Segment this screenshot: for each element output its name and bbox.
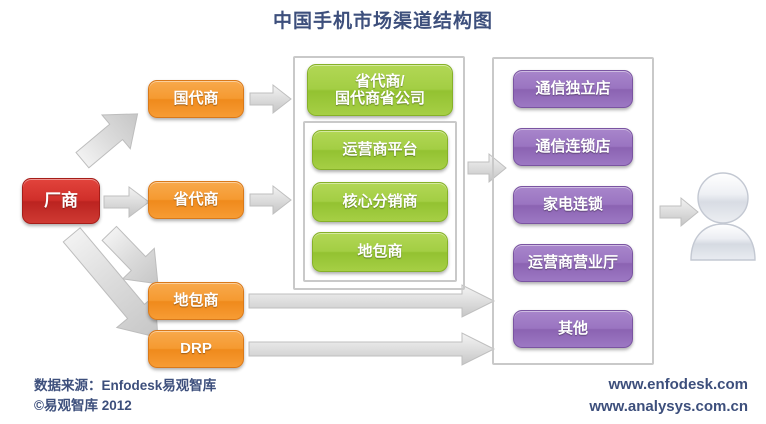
node-local-packager[interactable]: 地包商 — [312, 232, 448, 272]
node-telecom-chain-store[interactable]: 通信连锁店 — [513, 128, 633, 166]
arrow-provincial-to-subdist — [248, 184, 294, 216]
node-label-line2: 国代商省公司 — [335, 90, 425, 107]
node-telecom-independent-store[interactable]: 通信独立店 — [513, 70, 633, 108]
arrow-manufacturer-to-national — [60, 82, 160, 192]
page-title: 中国手机市场渠道结构图 — [0, 6, 766, 33]
node-national-distributor[interactable]: 国代商 — [148, 80, 244, 118]
node-operator-platform[interactable]: 运营商平台 — [312, 130, 448, 170]
node-other[interactable]: 其他 — [513, 310, 633, 348]
node-provincial-distributor[interactable]: 省代商 — [148, 181, 244, 219]
node-appliance-chain[interactable]: 家电连锁 — [513, 186, 633, 224]
node-core-distributor[interactable]: 核心分销商 — [312, 182, 448, 222]
user-avatar-icon — [686, 170, 760, 267]
diagram-canvas: 中国手机市场渠道结构图 — [0, 0, 766, 424]
footer-url-analysys[interactable]: www.analysys.com.cn — [589, 396, 748, 418]
arrow-drp-to-retail — [247, 331, 497, 367]
node-label-line1: 省代商/ — [355, 73, 404, 90]
footer-urls: www.enfodesk.com www.analysys.com.cn — [589, 374, 748, 418]
node-manufacturer[interactable]: 厂商 — [22, 178, 100, 224]
footer-source: 数据来源：Enfodesk易观智库 ©易观智库 2012 — [34, 376, 216, 417]
footer-url-enfodesk[interactable]: www.enfodesk.com — [589, 374, 748, 396]
arrow-national-to-subdist — [248, 83, 294, 115]
node-local-distributor[interactable]: 地包商 — [148, 282, 244, 320]
footer-source-line2: ©易观智库 2012 — [34, 396, 216, 416]
node-provincial-or-national-subsidiary[interactable]: 省代商/ 国代商省公司 — [307, 64, 453, 116]
footer-source-line1: 数据来源：Enfodesk易观智库 — [34, 376, 216, 396]
node-operator-business-hall[interactable]: 运营商营业厅 — [513, 244, 633, 282]
node-drp[interactable]: DRP — [148, 330, 244, 368]
